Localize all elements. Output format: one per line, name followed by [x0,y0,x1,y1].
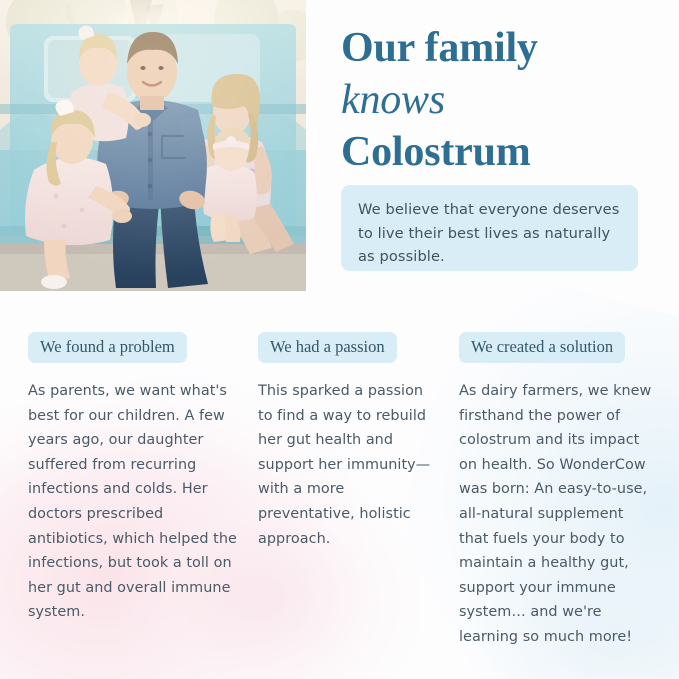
story-heading-solution: We created a solution [459,332,625,363]
belief-statement-text: We believe that everyone deserves to liv… [358,198,621,269]
story-heading-passion: We had a passion [258,332,397,363]
page-title: Our family knows Colostrum [341,22,661,178]
story-column-solution: We created a solution As dairy farmers, … [459,332,659,650]
story-body-passion: This sparked a passion to find a way to … [258,379,434,551]
belief-statement-box: We believe that everyone deserves to liv… [341,185,638,271]
headline-line-1: Our family [341,22,661,74]
brand-story-graphic: Our family knows Colostrum We believe th… [0,0,679,679]
story-column-problem: We found a problem As parents, we want w… [28,332,240,625]
headline-line-2-italic: knows [341,74,661,126]
family-photo-illustration [0,0,306,291]
story-body-problem: As parents, we want what's best for our … [28,379,238,625]
story-body-solution: As dairy farmers, we knew firsthand the … [459,379,655,650]
story-column-passion: We had a passion This sparked a passion … [258,332,448,551]
family-photo [0,0,306,291]
story-heading-problem: We found a problem [28,332,187,363]
headline-line-3: Colostrum [341,126,661,178]
